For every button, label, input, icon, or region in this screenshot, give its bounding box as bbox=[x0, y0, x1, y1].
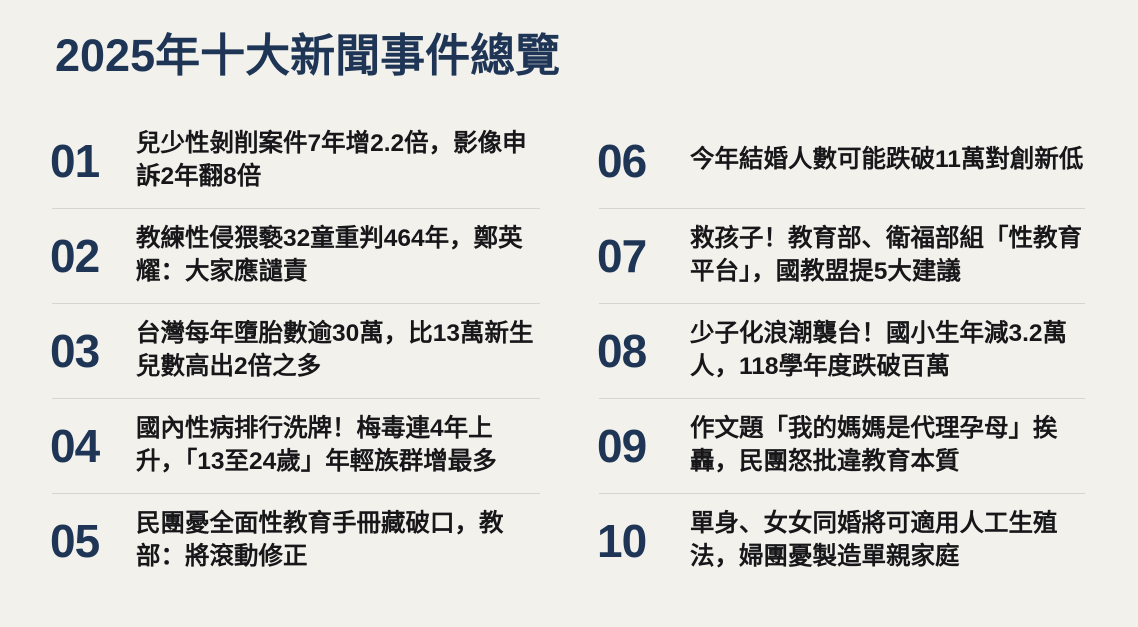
news-columns: 01 兒少性剝削案件7年增2.2倍，影像申訴2年翻8倍 02 教練性侵猥褻32童… bbox=[0, 113, 1138, 588]
news-item-06[interactable]: 06 今年結婚人數可能跌破11萬對創新低 bbox=[595, 113, 1085, 208]
news-item-02[interactable]: 02 教練性侵猥褻32童重判464年，鄭英耀：大家應譴責 bbox=[48, 208, 540, 303]
item-number: 08 bbox=[595, 328, 690, 374]
news-item-01[interactable]: 01 兒少性剝削案件7年增2.2倍，影像申訴2年翻8倍 bbox=[48, 113, 540, 208]
item-number: 05 bbox=[48, 518, 136, 564]
news-item-07[interactable]: 07 救孩子！教育部、衛福部組「性教育平台」，國教盟提5大建議 bbox=[595, 208, 1085, 303]
item-headline[interactable]: 兒少性剝削案件7年增2.2倍，影像申訴2年翻8倍 bbox=[136, 128, 540, 193]
item-headline[interactable]: 單身、女女同婚將可適用人工生殖法，婦團憂製造單親家庭 bbox=[690, 508, 1085, 573]
item-headline[interactable]: 少子化浪潮襲台！國小生年減3.2萬人，118學年度跌破百萬 bbox=[690, 318, 1085, 383]
page-title: 2025年十大新聞事件總覽 bbox=[55, 31, 560, 81]
item-headline[interactable]: 民團憂全面性教育手冊藏破口，教部：將滾動修正 bbox=[136, 508, 540, 573]
item-number: 06 bbox=[595, 138, 690, 184]
item-headline[interactable]: 教練性侵猥褻32童重判464年，鄭英耀：大家應譴責 bbox=[136, 223, 540, 288]
item-number: 03 bbox=[48, 328, 136, 374]
item-number: 02 bbox=[48, 233, 136, 279]
item-headline[interactable]: 今年結婚人數可能跌破11萬對創新低 bbox=[690, 144, 1085, 177]
news-column-left: 01 兒少性剝削案件7年增2.2倍，影像申訴2年翻8倍 02 教練性侵猥褻32童… bbox=[0, 113, 569, 588]
item-headline[interactable]: 作文題「我的媽媽是代理孕母」挨轟，民團怒批違教育本質 bbox=[690, 413, 1085, 478]
item-number: 04 bbox=[48, 423, 136, 469]
news-item-03[interactable]: 03 台灣每年墮胎數逾30萬，比13萬新生兒數高出2倍之多 bbox=[48, 303, 540, 398]
news-item-09[interactable]: 09 作文題「我的媽媽是代理孕母」挨轟，民團怒批違教育本質 bbox=[595, 398, 1085, 493]
item-number: 07 bbox=[595, 233, 690, 279]
news-item-04[interactable]: 04 國內性病排行洗牌！梅毒連4年上升，「13至24歲」年輕族群增最多 bbox=[48, 398, 540, 493]
item-headline[interactable]: 國內性病排行洗牌！梅毒連4年上升，「13至24歲」年輕族群增最多 bbox=[136, 413, 540, 478]
news-item-10[interactable]: 10 單身、女女同婚將可適用人工生殖法，婦團憂製造單親家庭 bbox=[595, 493, 1085, 588]
item-number: 09 bbox=[595, 423, 690, 469]
item-number: 10 bbox=[595, 518, 690, 564]
item-headline[interactable]: 救孩子！教育部、衛福部組「性教育平台」，國教盟提5大建議 bbox=[690, 223, 1085, 288]
news-summary-infographic: 2025年十大新聞事件總覽 01 兒少性剝削案件7年增2.2倍，影像申訴2年翻8… bbox=[0, 0, 1138, 627]
item-headline[interactable]: 台灣每年墮胎數逾30萬，比13萬新生兒數高出2倍之多 bbox=[136, 318, 540, 383]
news-item-05[interactable]: 05 民團憂全面性教育手冊藏破口，教部：將滾動修正 bbox=[48, 493, 540, 588]
news-item-08[interactable]: 08 少子化浪潮襲台！國小生年減3.2萬人，118學年度跌破百萬 bbox=[595, 303, 1085, 398]
item-number: 01 bbox=[48, 138, 136, 184]
news-column-right: 06 今年結婚人數可能跌破11萬對創新低 07 救孩子！教育部、衛福部組「性教育… bbox=[569, 113, 1138, 588]
